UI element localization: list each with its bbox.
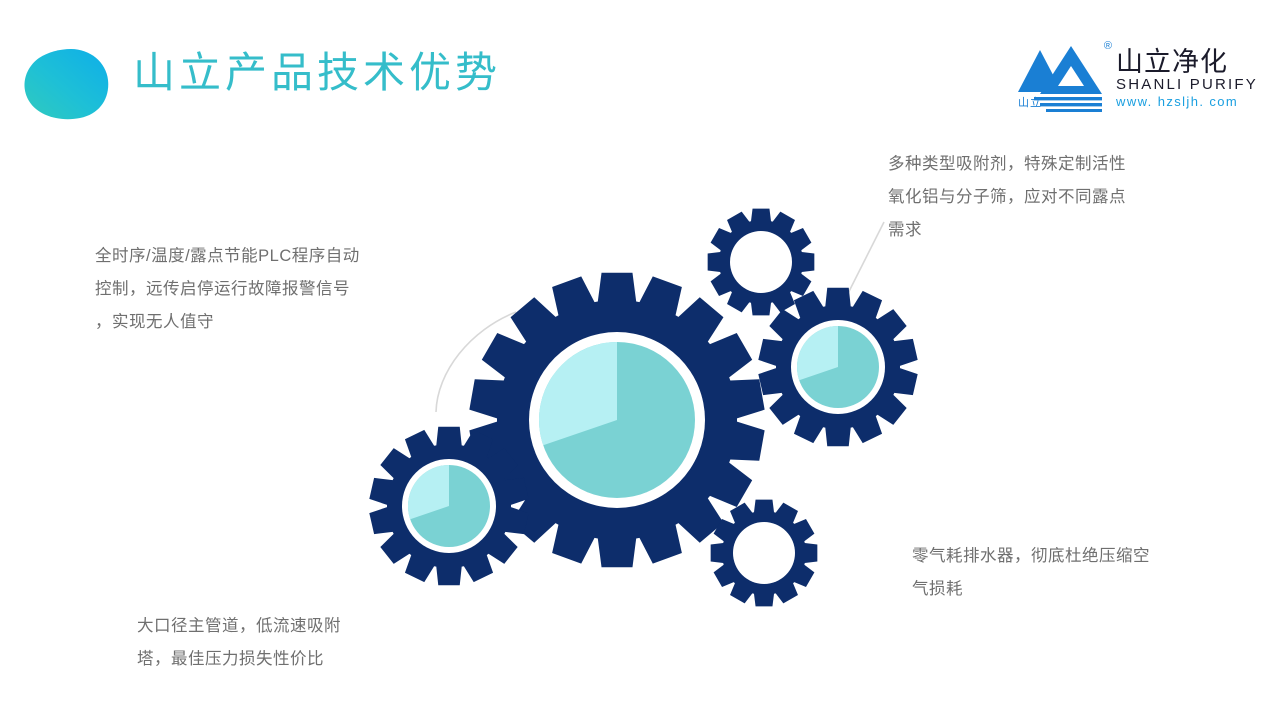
gear-left-lower (369, 427, 528, 586)
callout-plc-control: 全时序/温度/露点节能PLC程序自动 控制，远传启停运行故障报警信号 ，实现无人… (95, 240, 445, 339)
callout-large-pipe: 大口径主管道，低流速吸附 塔，最佳压力损失性价比 (137, 610, 427, 676)
gear-right (758, 288, 917, 447)
gear-bottom-small (711, 500, 818, 607)
callout-adsorbent-types: 多种类型吸附剂，特殊定制活性 氧化铝与分子筛，应对不同露点 需求 (888, 148, 1208, 247)
gear-bottom-small-hollow-center (733, 522, 795, 584)
callout-zero-loss-drain: 零气耗排水器，彻底杜绝压缩空 气损耗 (912, 540, 1222, 606)
gear-top-small-hollow-center (730, 231, 792, 293)
gear-shapes (369, 209, 917, 607)
slide-root: 山立产品技术优势 ® 山立 山立净化 SHANLI PURIFY www. hz… (0, 0, 1280, 720)
